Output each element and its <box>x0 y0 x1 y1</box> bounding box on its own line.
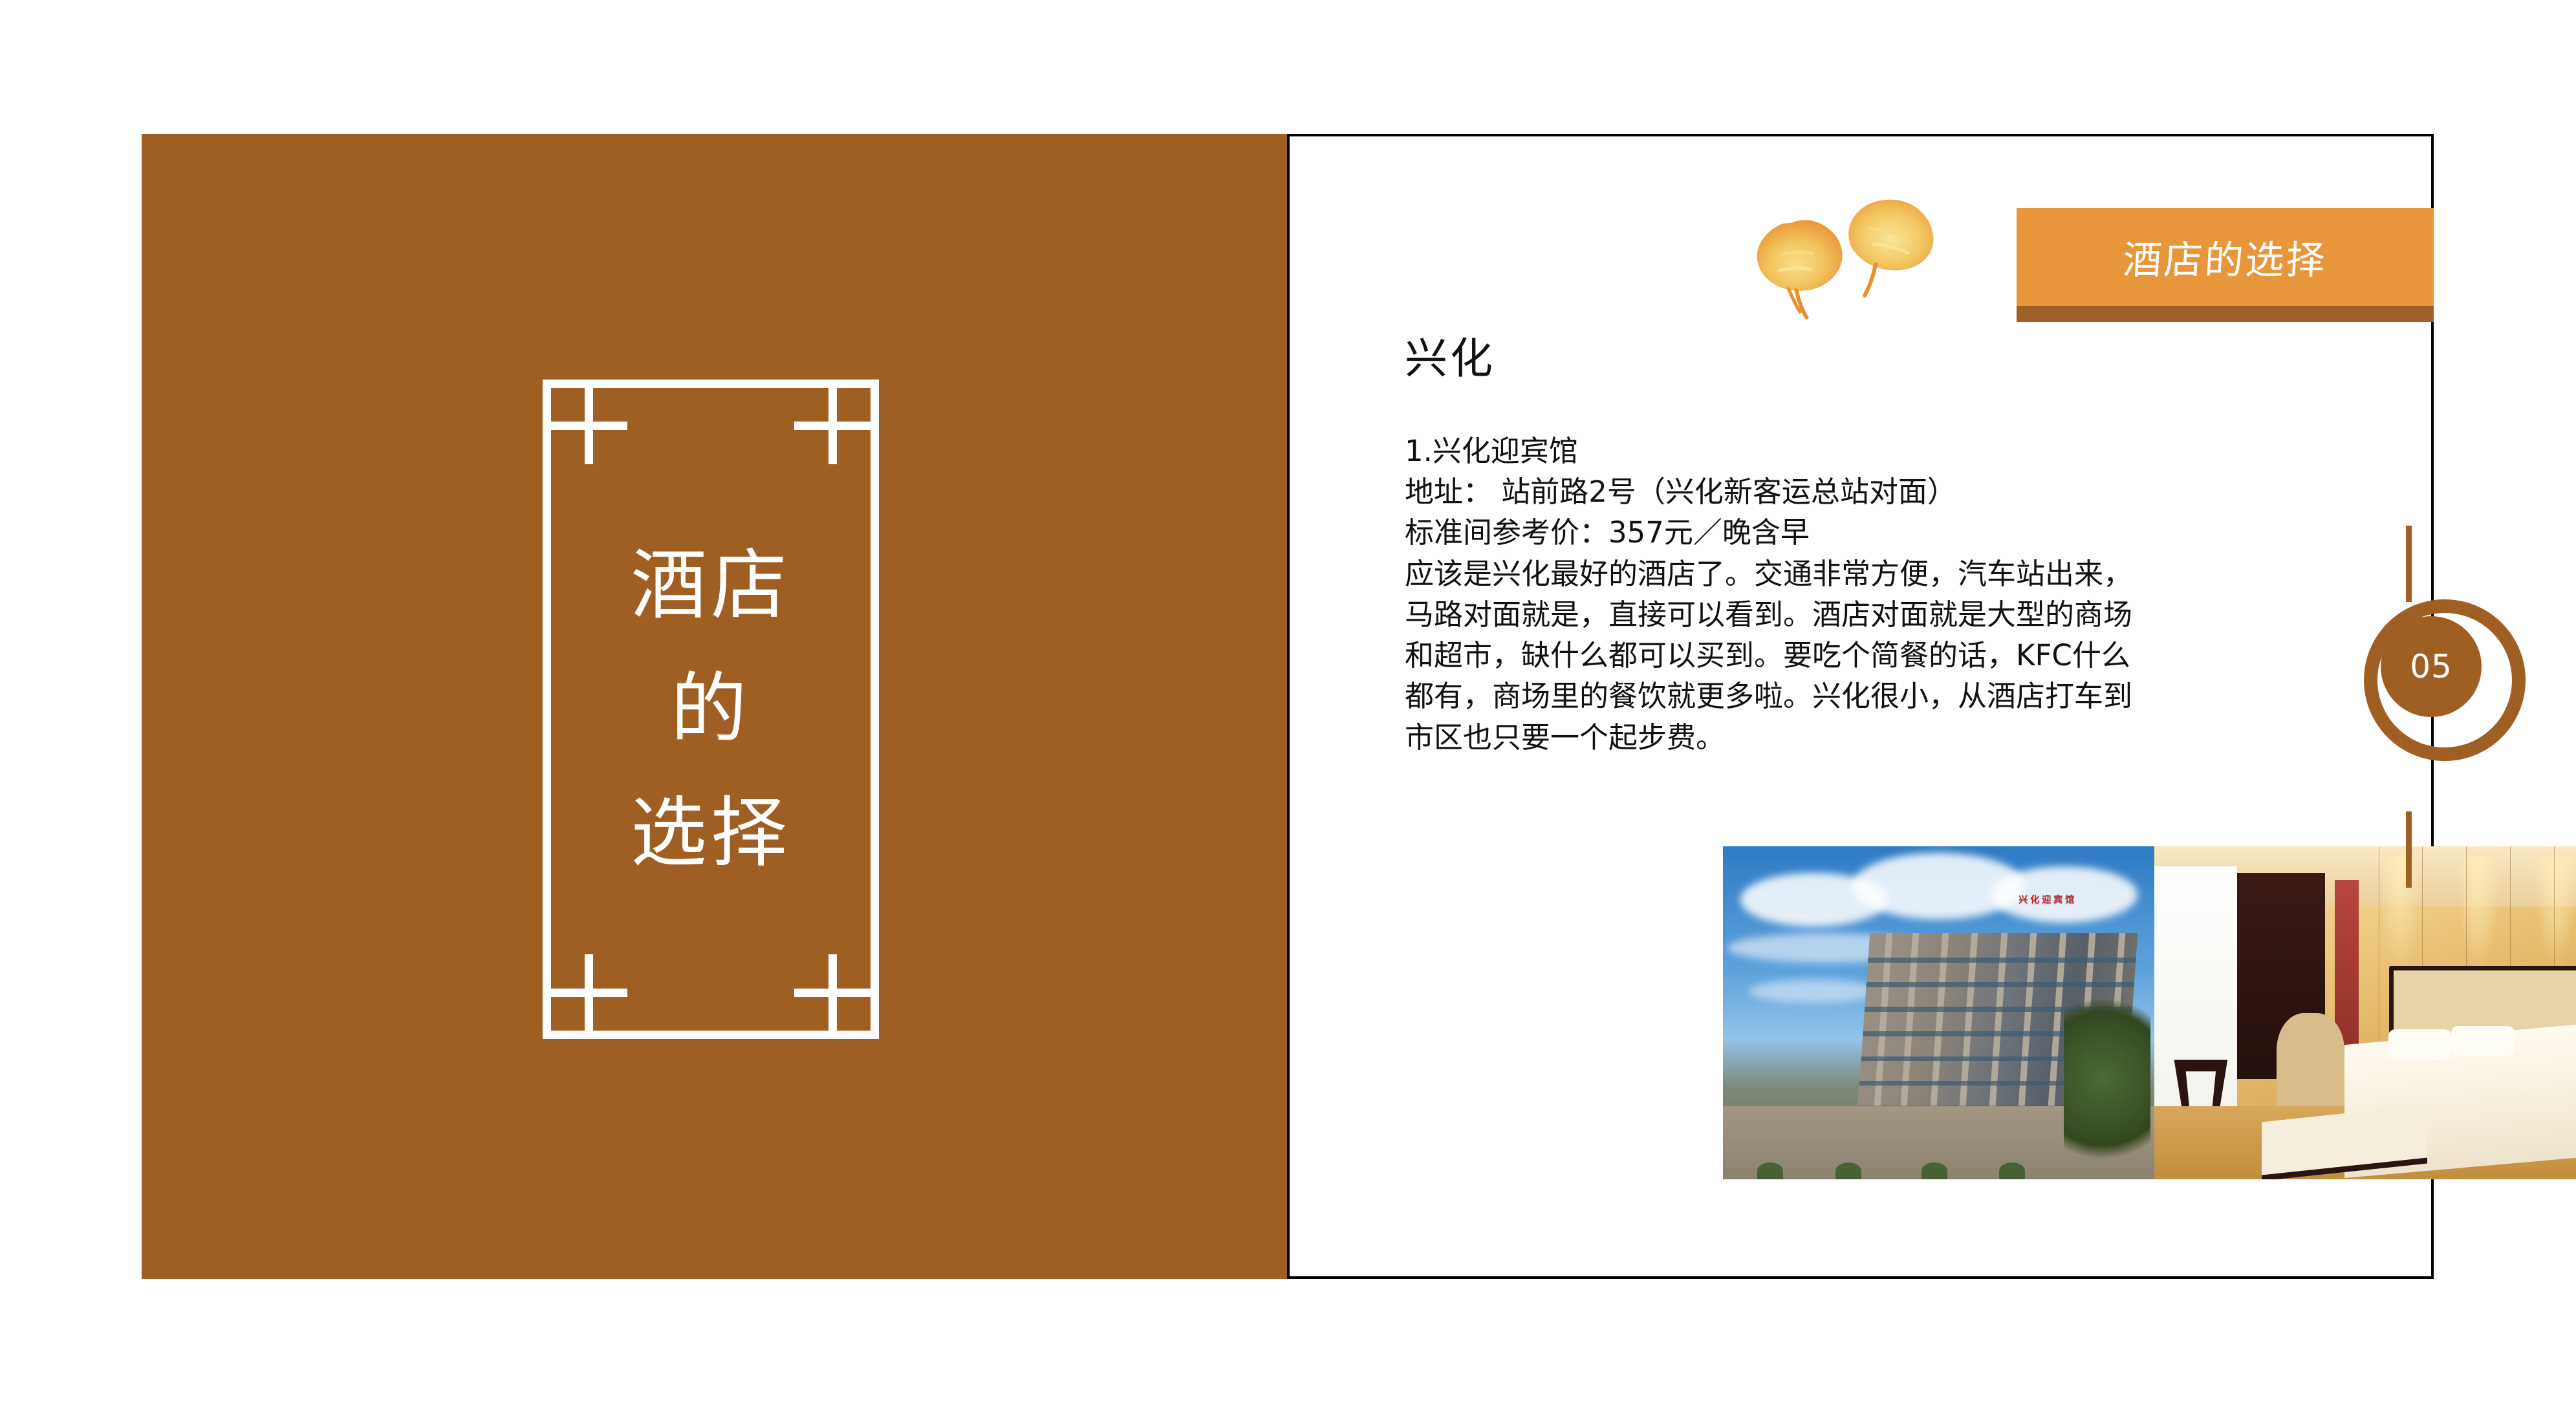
building-sign-text: 兴化迎宾馆 <box>2019 893 2077 906</box>
city-heading: 兴化 <box>1405 324 1495 386</box>
section-banner: 酒店的选择 <box>2017 208 2434 322</box>
page-tick-bottom <box>2406 811 2412 888</box>
section-banner-label: 酒店的选择 <box>2014 208 2436 306</box>
page-tick-top <box>2406 526 2412 602</box>
body-line-4: 应该是兴化最好的酒店了。交通非常方便，汽车站出来， <box>1405 553 2323 594</box>
body-line-5: 马路对面就是，直接可以看到。酒店对面就是大型的商场 <box>1405 594 2323 635</box>
body-line-7: 都有，商场里的餐饮就更多啦。兴化很小，从酒店打车到 <box>1405 676 2323 716</box>
cover-page: 酒店 的 选择 <box>142 134 1287 1279</box>
content-page: 酒店的选择 兴化 1.兴化迎宾馆 地址： 站前路2号（兴化新客运总站对面） 标准… <box>1287 134 2434 1279</box>
photo-collage: 兴化迎宾馆 <box>1723 846 2576 1179</box>
cover-title-line-1: 酒店 <box>631 524 791 647</box>
cover-title-line-2: 的 <box>671 647 751 771</box>
body-line-2: 地址： 站前路2号（兴化新客运总站对面） <box>1405 471 2323 512</box>
decorative-frame: 酒店 的 选择 <box>543 380 879 1039</box>
body-line-1: 1.兴化迎宾馆 <box>1405 431 2323 471</box>
body-copy: 1.兴化迎宾馆 地址： 站前路2号（兴化新客运总站对面） 标准间参考价：357元… <box>1405 431 2323 758</box>
body-line-8: 市区也只要一个起步费。 <box>1405 717 2323 758</box>
hotel-exterior-photo: 兴化迎宾馆 <box>1723 846 2154 1179</box>
body-line-3: 标准间参考价：357元／晚含早 <box>1405 512 2323 553</box>
cover-title-line-3: 选择 <box>631 771 791 895</box>
section-banner-underbar <box>2017 306 2434 322</box>
body-line-6: 和超市，缺什么都可以买到。要吃个简餐的话，KFC什么 <box>1405 635 2323 676</box>
hotel-room-photo <box>2154 846 2576 1179</box>
page-number: 05 <box>2381 616 2482 717</box>
page-number-badge: 05 <box>2381 616 2482 717</box>
cover-title: 酒店 的 选择 <box>551 388 871 1031</box>
ginkgo-leaves-icon <box>1729 185 1962 340</box>
